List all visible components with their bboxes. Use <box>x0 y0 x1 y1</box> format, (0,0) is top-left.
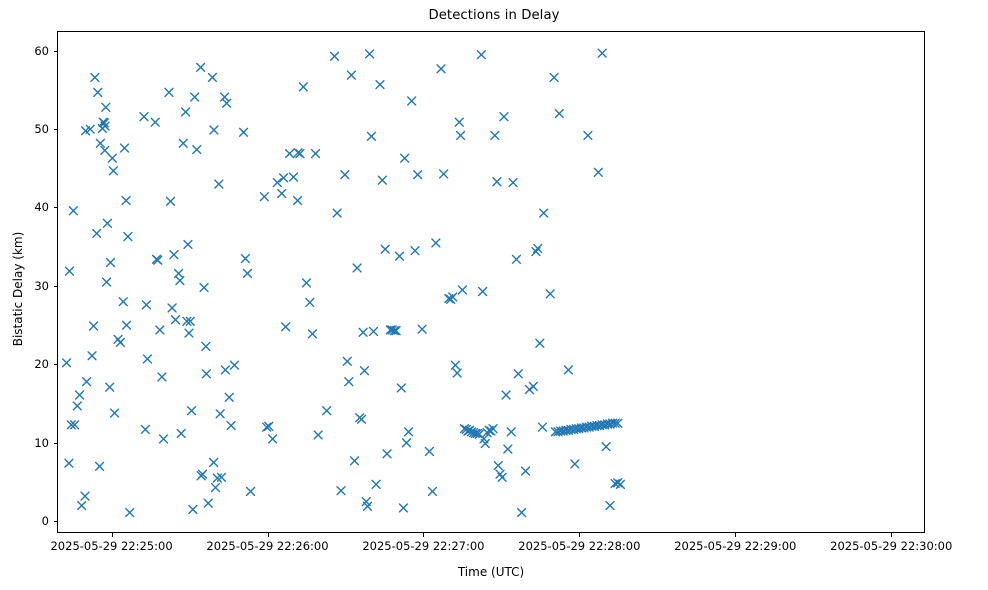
chart-title: Detections in Delay <box>0 8 988 23</box>
x-tick-label: 2025-05-29 22:26:00 <box>206 539 328 553</box>
y-tick-mark <box>54 364 58 365</box>
x-axis-label: Time (UTC) <box>57 565 925 579</box>
x-tick-label: 2025-05-29 22:29:00 <box>674 539 796 553</box>
y-tick-mark <box>54 286 58 287</box>
y-tick-label: 20 <box>34 357 49 371</box>
y-tick-mark <box>54 51 58 52</box>
x-tick-label: 2025-05-29 22:28:00 <box>518 539 640 553</box>
x-tick-mark <box>891 533 892 537</box>
y-axis-label: Bistatic Delay (km) <box>11 199 25 379</box>
plot-area <box>57 31 925 533</box>
x-tick-mark <box>423 533 424 537</box>
x-tick-label: 2025-05-29 22:27:00 <box>362 539 484 553</box>
y-tick-label: 0 <box>42 514 49 528</box>
y-axis-ticks: 0102030405060 <box>0 31 57 533</box>
x-tick-mark <box>112 533 113 537</box>
y-tick-mark <box>54 443 58 444</box>
x-tick-mark <box>735 533 736 537</box>
y-tick-mark <box>54 129 58 130</box>
figure-root: Detections in Delay 0102030405060 2025-0… <box>0 0 988 590</box>
x-tick-label: 2025-05-29 22:25:00 <box>50 539 172 553</box>
x-tick-mark <box>579 533 580 537</box>
y-tick-mark <box>54 207 58 208</box>
scatter-points-canvas <box>58 32 925 533</box>
y-tick-label: 50 <box>34 122 49 136</box>
x-tick-mark <box>268 533 269 537</box>
y-tick-label: 10 <box>34 436 49 450</box>
y-tick-label: 30 <box>34 279 49 293</box>
y-tick-mark <box>54 521 58 522</box>
x-tick-label: 2025-05-29 22:30:00 <box>830 539 952 553</box>
y-tick-label: 60 <box>34 44 49 58</box>
y-tick-label: 40 <box>34 200 49 214</box>
